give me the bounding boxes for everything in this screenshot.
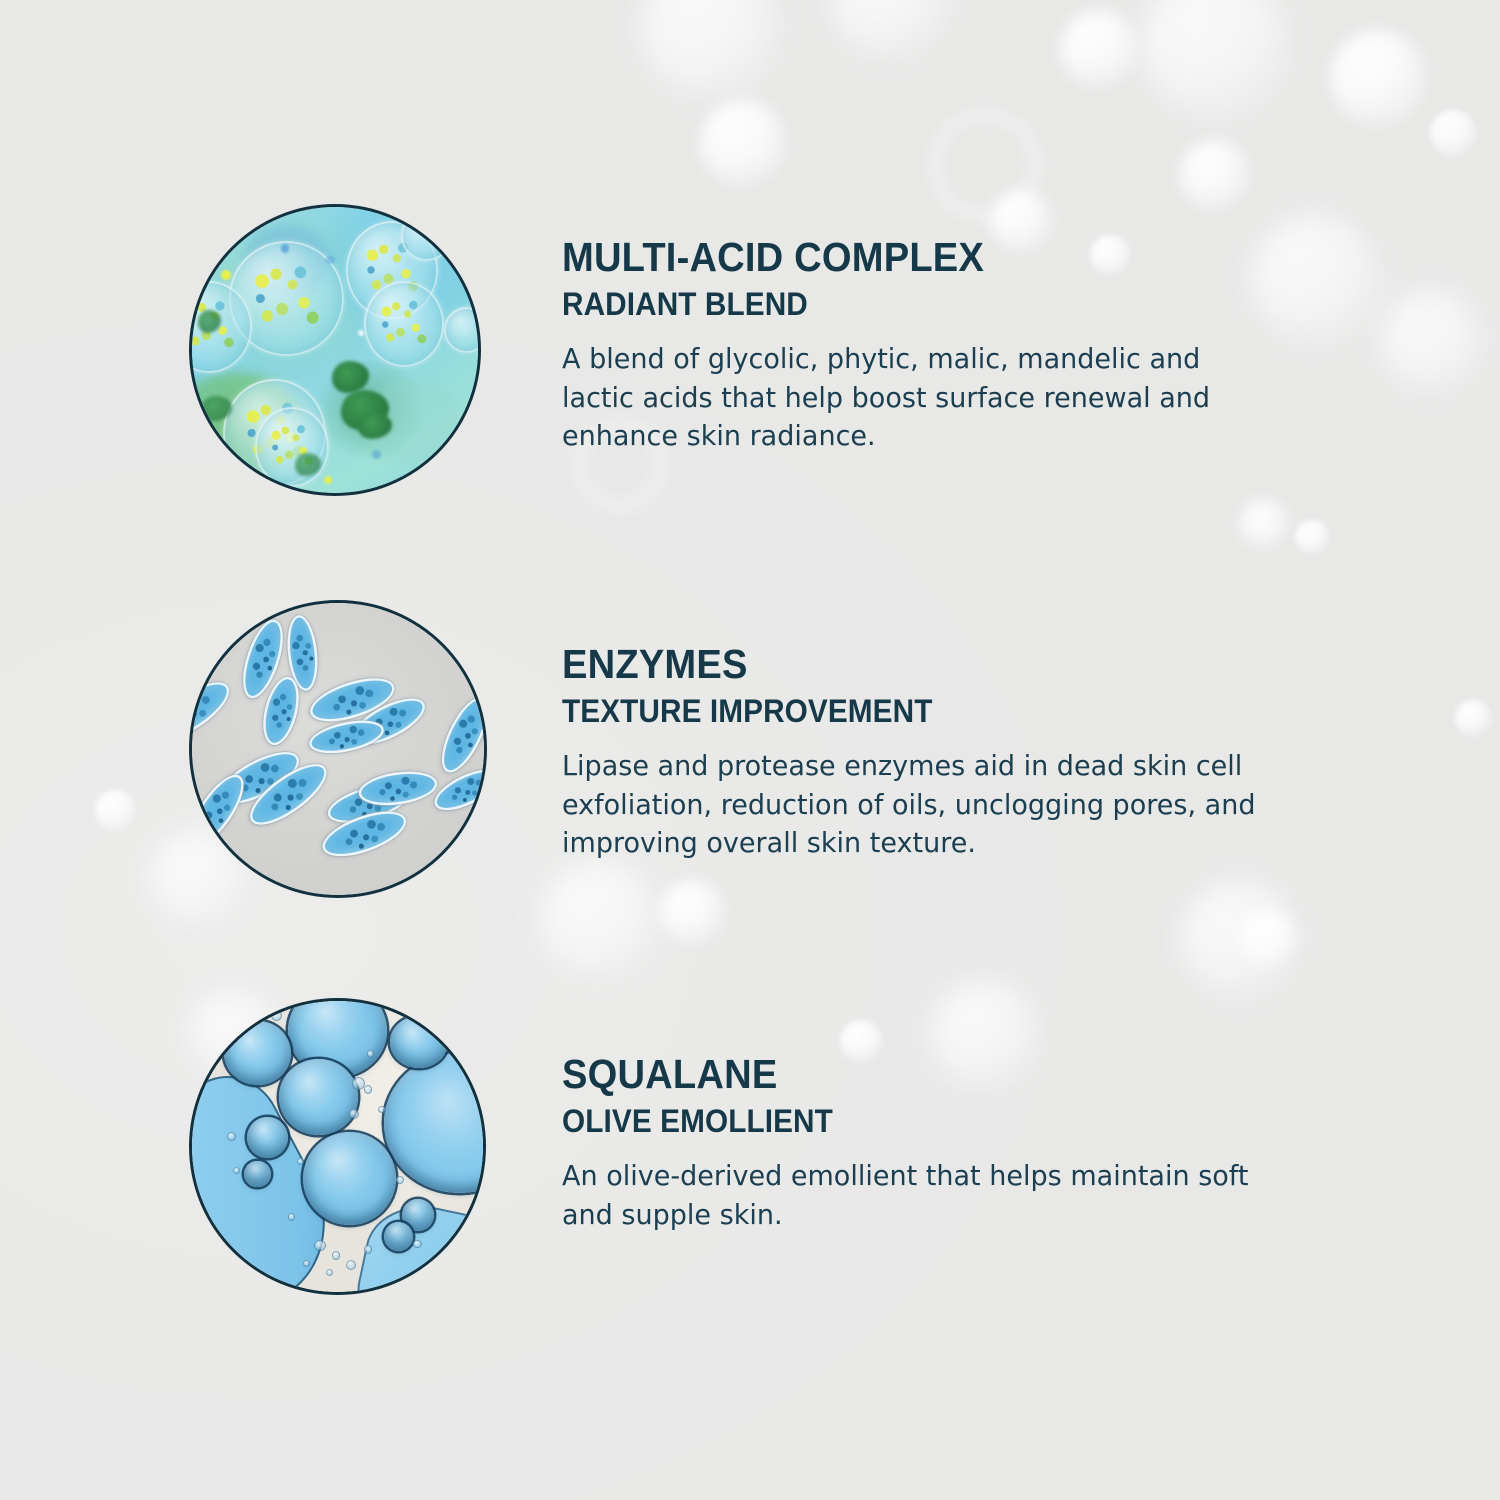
ingredient-description: A blend of glycolic, phytic, malic, mand… [562,340,1271,454]
ingredient-text-squalane: SQUALANE OLIVE EMOLLIENT An olive-derive… [562,1053,1322,1234]
ingredient-subtitle: TEXTURE IMPROVEMENT [562,694,1269,730]
ingredient-title: SQUALANE [562,1053,1269,1096]
ingredient-subtitle: RADIANT BLEND [562,287,1269,323]
ingredient-title: ENZYMES [562,643,1269,686]
ingredient-text-enzymes: ENZYMES TEXTURE IMPROVEMENT Lipase and p… [562,643,1322,862]
ingredient-title: MULTI-ACID COMPLEX [562,236,1269,279]
oil-droplets-macro-image [192,1001,483,1292]
algae-cells-microscopy-image [192,207,478,493]
ingredient-subtitle: OLIVE EMOLLIENT [562,1104,1269,1140]
enzyme-cells-microscopy-image [192,603,484,895]
ingredient-text-multi-acid-complex: MULTI-ACID COMPLEX RADIANT BLEND A blend… [562,236,1322,455]
ingredient-description: Lipase and protease enzymes aid in dead … [562,747,1271,861]
ingredient-description: An olive-derived emollient that helps ma… [562,1157,1271,1233]
ingredient-benefits-infographic: MULTI-ACID COMPLEX RADIANT BLEND A blend… [0,0,1500,1500]
